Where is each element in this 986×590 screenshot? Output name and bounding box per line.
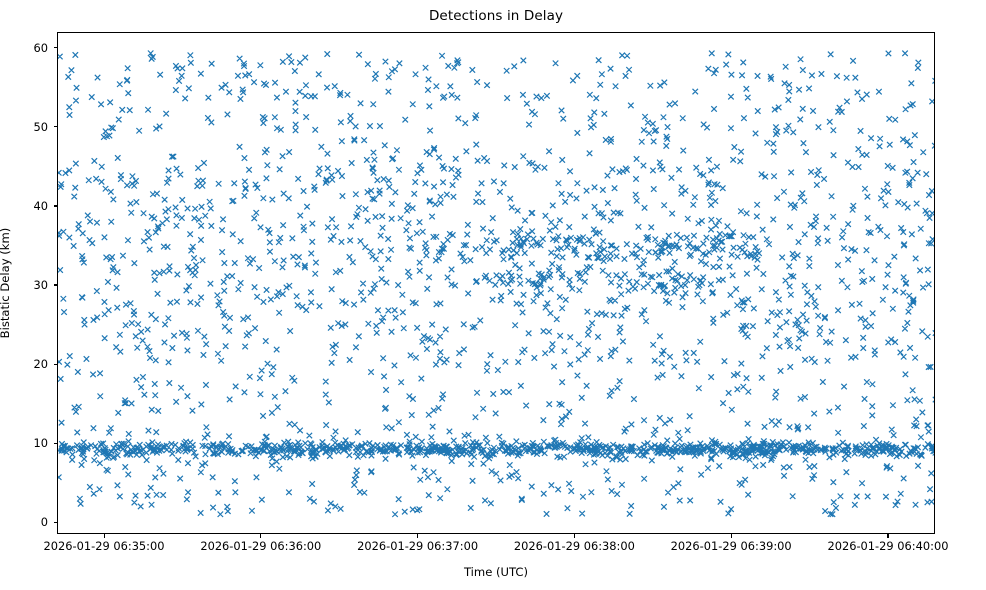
scatter-points-layer	[58, 33, 935, 534]
matplotlib-figure: Detections in Delay Bistatic Delay (km) …	[0, 0, 986, 590]
x-tick-mark	[887, 534, 888, 538]
x-axis-label: Time (UTC)	[57, 565, 935, 579]
chart-title: Detections in Delay	[57, 8, 935, 24]
y-tick-label: 40	[0, 199, 48, 213]
x-tick-label: 2026-01-29 06:40:00	[827, 539, 948, 553]
x-tick-label: 2026-01-29 06:38:00	[514, 539, 635, 553]
y-tick-label: 0	[0, 515, 48, 529]
y-tick-label: 10	[0, 436, 48, 450]
x-tick-label: 2026-01-29 06:35:00	[44, 539, 165, 553]
x-tick-mark	[260, 534, 261, 538]
y-tick-label: 50	[0, 120, 48, 134]
x-tick-mark	[104, 534, 105, 538]
y-tick-label: 20	[0, 357, 48, 371]
scatter-markers	[58, 51, 935, 518]
y-tick-label: 30	[0, 278, 48, 292]
x-tick-mark	[417, 534, 418, 538]
y-tick-label: 60	[0, 41, 48, 55]
plot-area	[57, 32, 935, 534]
x-tick-label: 2026-01-29 06:36:00	[200, 539, 321, 553]
x-tick-label: 2026-01-29 06:39:00	[671, 539, 792, 553]
x-tick-mark	[731, 534, 732, 538]
x-tick-label: 2026-01-29 06:37:00	[357, 539, 478, 553]
x-tick-mark	[574, 534, 575, 538]
